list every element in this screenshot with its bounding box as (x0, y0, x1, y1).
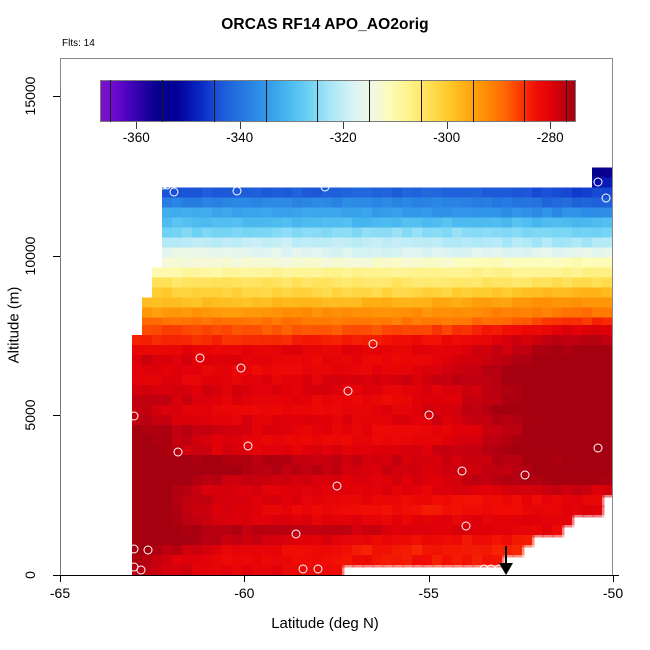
y-tick (53, 256, 60, 257)
colorbar-separator (162, 80, 163, 122)
y-tick (53, 415, 60, 416)
y-tick-label: 0 (22, 571, 38, 579)
y-tick-label: 5000 (22, 400, 38, 431)
data-point-marker (144, 545, 153, 554)
y-tick (53, 96, 60, 97)
data-point-marker (244, 441, 253, 450)
data-point-marker (424, 411, 433, 420)
colorbar-tick-label: -300 (433, 130, 460, 145)
data-point-marker (457, 467, 466, 476)
data-point-marker (129, 412, 138, 421)
x-tick (429, 575, 430, 582)
chart-root: ORCAS RF14 APO_AO2orig Flts: 14 MMDD: 02… (0, 0, 650, 650)
data-point-marker (594, 178, 603, 187)
y-tick-label: 10000 (22, 236, 38, 275)
data-point-marker (314, 564, 323, 573)
y-axis-title: Altitude (m) (6, 287, 23, 364)
colorbar-separator (566, 80, 567, 122)
data-point-marker (137, 565, 146, 574)
colorbar-separator (524, 80, 525, 122)
data-point-marker (594, 443, 603, 452)
data-point-marker (321, 183, 330, 192)
data-point-marker (601, 194, 610, 203)
colorbar-separator (214, 80, 215, 122)
colorbar (100, 80, 576, 122)
colorbar-tick-label: -360 (123, 130, 150, 145)
colorbar-tick (343, 122, 344, 129)
colorbar-separator (110, 80, 111, 122)
colorbar-tick (447, 122, 448, 129)
flights-count-label: Flts: 14 (62, 38, 95, 49)
data-point-marker (232, 187, 241, 196)
colorbar-separator (473, 80, 474, 122)
x-tick-label: -65 (50, 585, 70, 601)
data-point-marker (162, 180, 171, 189)
y-axis-line (60, 90, 61, 576)
data-point-marker (461, 521, 470, 530)
x-axis-line (57, 575, 619, 576)
data-point-marker (332, 481, 341, 490)
colorbar-tick-label: -280 (537, 130, 564, 145)
data-point-marker (369, 339, 378, 348)
colorbar-tick (136, 122, 137, 129)
colorbar-separator (421, 80, 422, 122)
colorbar-separator (369, 80, 370, 122)
colorbar-tick-label: -340 (226, 130, 253, 145)
y-tick-label: 15000 (22, 77, 38, 116)
data-point-marker (520, 471, 529, 480)
x-tick-label: -55 (419, 585, 439, 601)
x-tick (613, 575, 614, 582)
data-point-marker (129, 544, 138, 553)
data-point-marker (236, 363, 245, 372)
page-title: ORCAS RF14 APO_AO2orig (0, 16, 650, 34)
data-point-marker (291, 530, 300, 539)
data-point-marker (299, 564, 308, 573)
x-tick-label: -50 (603, 585, 623, 601)
arrow-head-icon (499, 563, 513, 575)
x-tick-label: -60 (234, 585, 254, 601)
y-tick (53, 575, 60, 576)
x-tick (244, 575, 245, 582)
colorbar-tick (550, 122, 551, 129)
data-point-marker (173, 448, 182, 457)
x-tick (60, 575, 61, 582)
colorbar-tick (240, 122, 241, 129)
data-point-marker (196, 353, 205, 362)
colorbar-separator (266, 80, 267, 122)
colorbar-separator (317, 80, 318, 122)
colorbar-tick-label: -320 (330, 130, 357, 145)
x-axis-title: Latitude (deg N) (0, 615, 650, 632)
data-point-marker (343, 387, 352, 396)
data-point-marker (170, 188, 179, 197)
